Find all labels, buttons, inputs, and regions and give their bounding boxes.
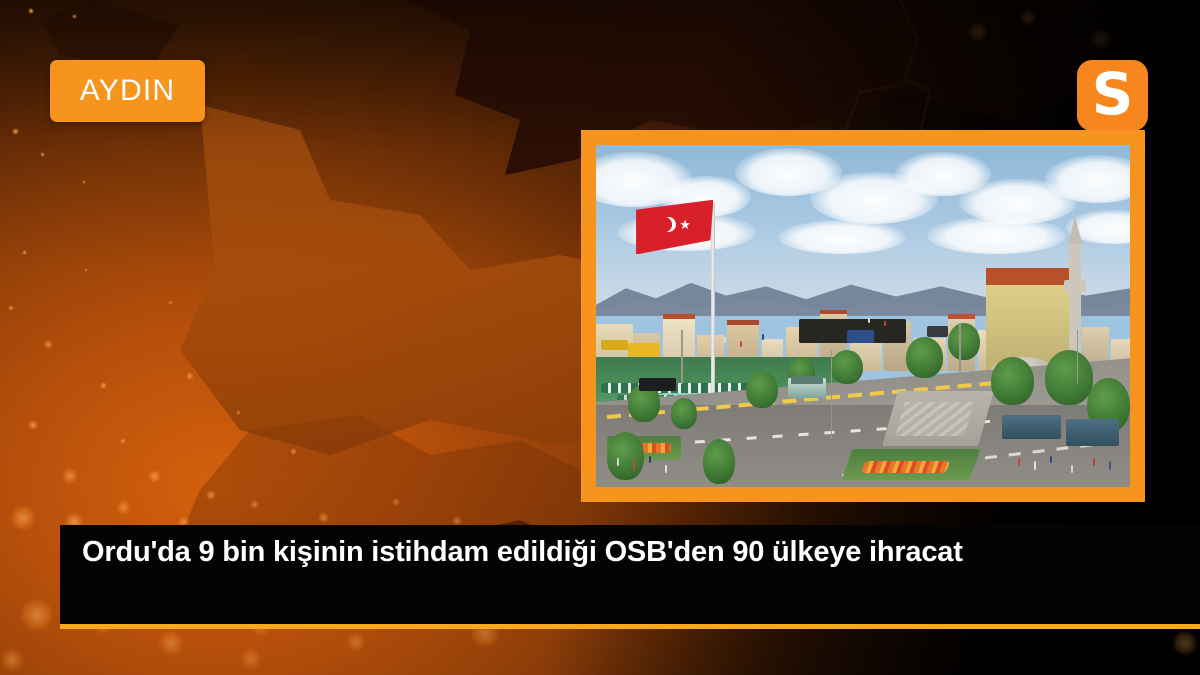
news-card: AYDIN S — [0, 0, 1200, 675]
headline-text: Ordu'da 9 bin kişinin istihdam edildiği … — [82, 535, 1178, 571]
news-photo-frame[interactable]: ★ — [581, 130, 1145, 502]
news-photo: ★ — [596, 145, 1130, 487]
photo-minaret-tip — [1068, 216, 1082, 244]
photo-flag-crescent — [657, 217, 672, 232]
photo-flag-star: ★ — [679, 218, 691, 231]
city-badge-label: AYDIN — [80, 76, 175, 106]
headline-bar: Ordu'da 9 bin kişinin istihdam edildiği … — [60, 525, 1200, 629]
city-badge[interactable]: AYDIN — [50, 60, 205, 122]
brand-logo-letter: S — [1092, 65, 1134, 123]
brand-logo[interactable]: S — [1077, 60, 1148, 131]
